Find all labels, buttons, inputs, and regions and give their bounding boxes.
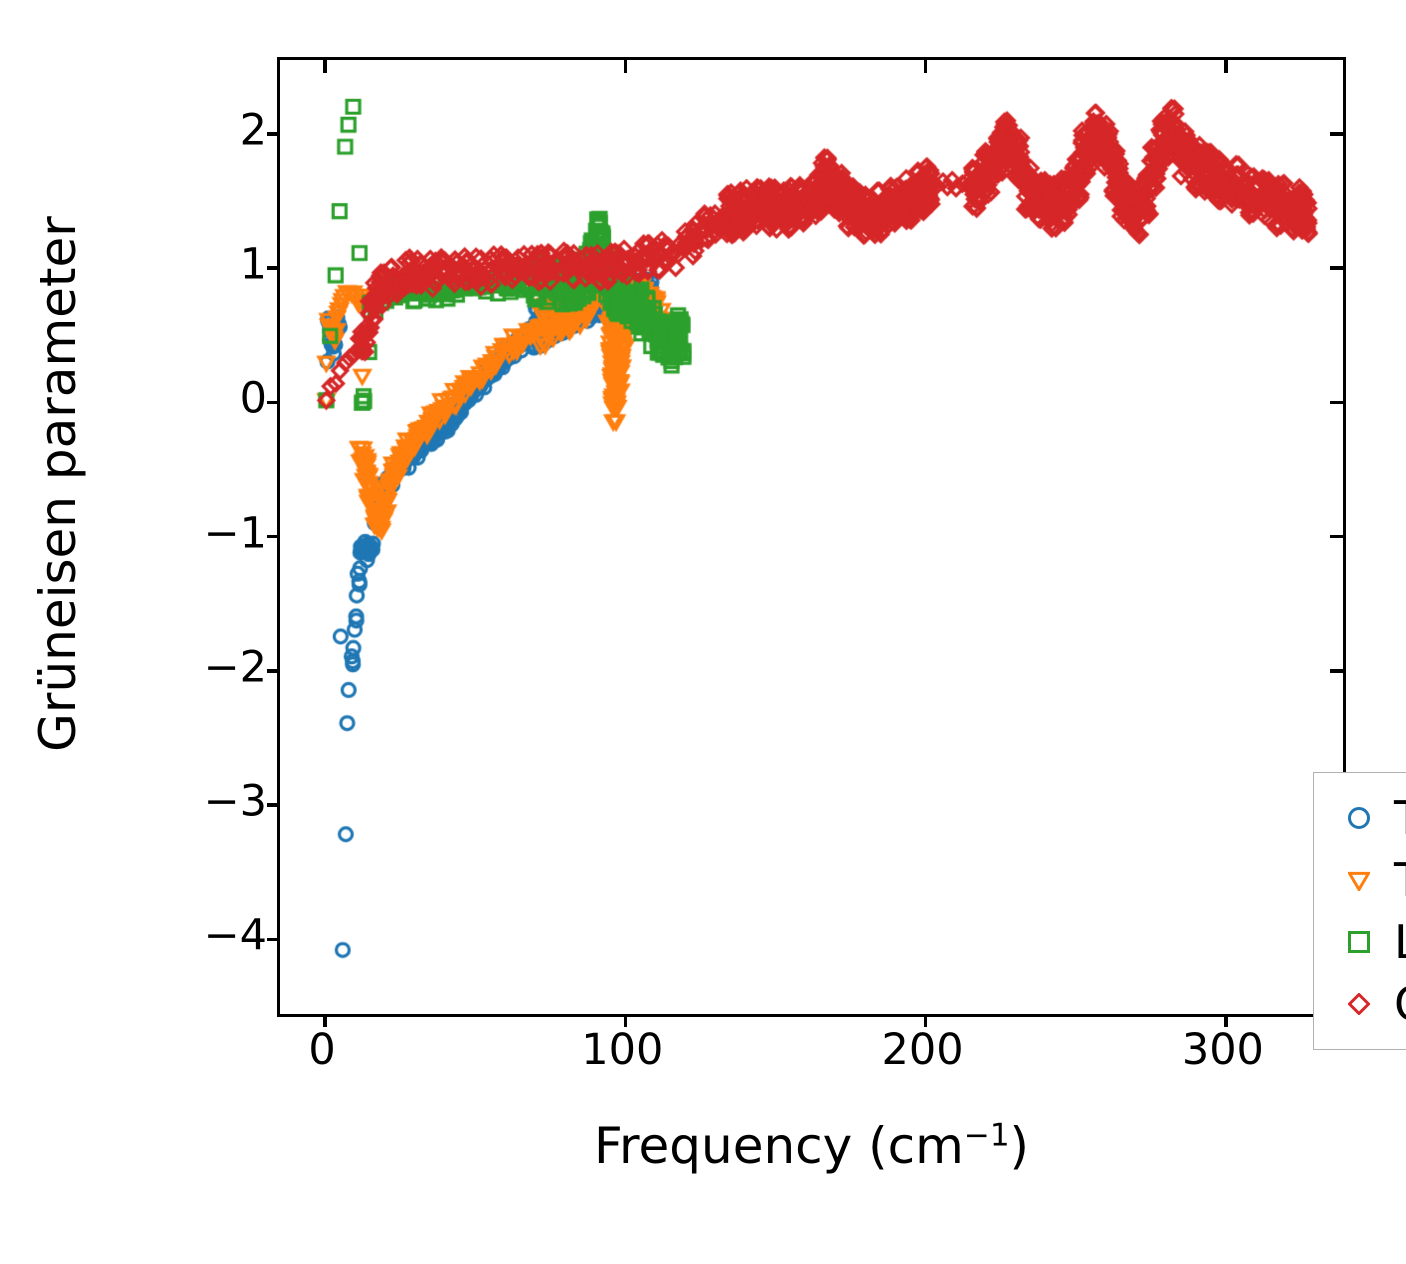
x-axis-tick [924,1014,927,1027]
y-axis-label: Grüneisen parameter [29,4,87,964]
x-tick-label: 100 [581,1029,663,1072]
legend[interactable]: TA(1)TA(2)LAOptical [1313,772,1406,1050]
y-tick-label: 2 [240,109,267,152]
triangle-down-icon [1328,869,1390,891]
square-icon [1328,931,1390,953]
x-axis-label-superscript: −1 [964,1117,1010,1153]
x-axis-tick [323,1014,326,1027]
legend-item-optical[interactable]: Optical [1328,973,1406,1035]
y-axis-tick-right [1330,132,1343,135]
y-axis-tick [267,669,280,672]
x-axis-label-text: Frequency (cm [594,1117,964,1175]
y-tick-label: −1 [204,512,267,555]
legend-item-ta2[interactable]: TA(2) [1328,849,1406,911]
y-axis-tick [267,132,280,135]
x-axis-tick-top [924,60,927,73]
x-axis-tick-top [323,60,326,73]
diamond-icon [1328,993,1390,1015]
x-axis-tick [1224,1014,1227,1027]
figure: Grüneisen parameter 210−1−2−3−4 01002003… [0,0,1406,1264]
legend-label: LA [1390,919,1406,965]
y-axis-tick [267,803,280,806]
y-tick-label: −2 [204,646,267,689]
y-axis-tick-right [1330,669,1343,672]
y-tick-label: 1 [240,244,267,287]
y-axis-tick [267,938,280,941]
scatter-canvas [280,60,1343,1014]
x-axis-tick-top [1224,60,1227,73]
y-axis-tick-right [1330,401,1343,404]
legend-label: TA(2) [1390,857,1406,903]
y-tick-label: −4 [204,915,267,958]
y-axis-tick [267,401,280,404]
x-tick-label: 0 [308,1029,335,1072]
circle-icon [1328,807,1390,829]
legend-label: Optical [1390,981,1406,1027]
x-axis-tick-top [624,60,627,73]
x-axis-label-tail: ) [1010,1117,1030,1175]
y-axis-tick [267,535,280,538]
y-axis-tick-right [1330,266,1343,269]
plot-area: TA(1)TA(2)LAOptical [277,57,1346,1017]
y-axis-tick [267,266,280,269]
legend-item-ta1[interactable]: TA(1) [1328,787,1406,849]
y-tick-label: −3 [204,781,267,824]
x-tick-label: 300 [1182,1029,1264,1072]
x-tick-label: 200 [882,1029,964,1072]
legend-item-la[interactable]: LA [1328,911,1406,973]
y-tick-label: 0 [240,378,267,421]
x-axis-tick [624,1014,627,1027]
x-axis-label: Frequency (cm−1) [277,1120,1346,1173]
y-axis-tick-right [1330,535,1343,538]
legend-label: TA(1) [1390,795,1406,841]
